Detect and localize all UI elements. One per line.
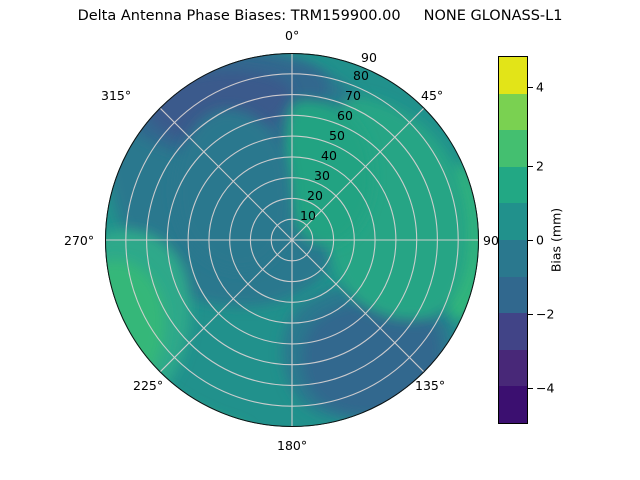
angular-tick-180: 180° [277, 438, 307, 453]
colorbar-band-7 [499, 167, 527, 204]
radial-tick-40: 40 [321, 148, 337, 163]
angular-tick-135: 135° [415, 378, 445, 393]
colorbar-tick-label-2: 2 [536, 159, 544, 174]
colorbar-band-5 [499, 240, 527, 277]
colorbar-band-10 [499, 57, 527, 94]
colorbar-axis-label: Bias (mm) [549, 208, 564, 272]
figure-title: Delta Antenna Phase Biases: TRM159900.00… [0, 8, 640, 24]
colorbar-tick-mark-2 [528, 166, 533, 167]
radial-tick-20: 20 [307, 188, 323, 203]
angular-tick-225: 225° [133, 378, 163, 393]
colorbar-band-6 [499, 203, 527, 240]
radial-tick-10: 10 [300, 208, 316, 223]
colorbar-band-3 [499, 313, 527, 350]
angular-tick-0: 0° [285, 28, 299, 43]
radial-tick-90: 90 [361, 50, 377, 65]
colorbar-tick-label-4: 4 [536, 80, 544, 95]
angular-tick-270: 270° [64, 233, 94, 248]
colorbar-gradient[interactable] [498, 56, 528, 424]
colorbar-tick-label-minus4: −4 [536, 381, 554, 396]
angular-tick-315: 315° [101, 88, 131, 103]
angular-tick-45: 45° [421, 88, 443, 103]
colorbar-tick-label-0: 0 [536, 233, 544, 248]
radial-tick-60: 60 [337, 108, 353, 123]
polar-contour-surface [105, 53, 479, 427]
radial-tick-80: 80 [353, 68, 369, 83]
radial-tick-30: 30 [314, 168, 330, 183]
colorbar[interactable]: 4 2 0 −2 −4 [498, 56, 528, 424]
colorbar-tick-mark-m2 [528, 314, 533, 315]
colorbar-band-1 [499, 386, 527, 423]
radial-tick-70: 70 [345, 88, 361, 103]
polar-axes[interactable] [105, 53, 479, 427]
colorbar-tick-mark-4 [528, 87, 533, 88]
colorbar-band-4 [499, 277, 527, 314]
figure-canvas: Delta Antenna Phase Biases: TRM159900.00… [0, 0, 640, 480]
colorbar-tick-mark-m4 [528, 388, 533, 389]
colorbar-tick-mark-0 [528, 240, 533, 241]
colorbar-band-2 [499, 350, 527, 387]
radial-tick-50: 50 [329, 128, 345, 143]
colorbar-band-8 [499, 130, 527, 167]
colorbar-tick-label-minus2: −2 [536, 307, 554, 322]
colorbar-band-9 [499, 94, 527, 131]
polar-grid [105, 53, 479, 427]
polar-contour-svg [105, 53, 479, 427]
